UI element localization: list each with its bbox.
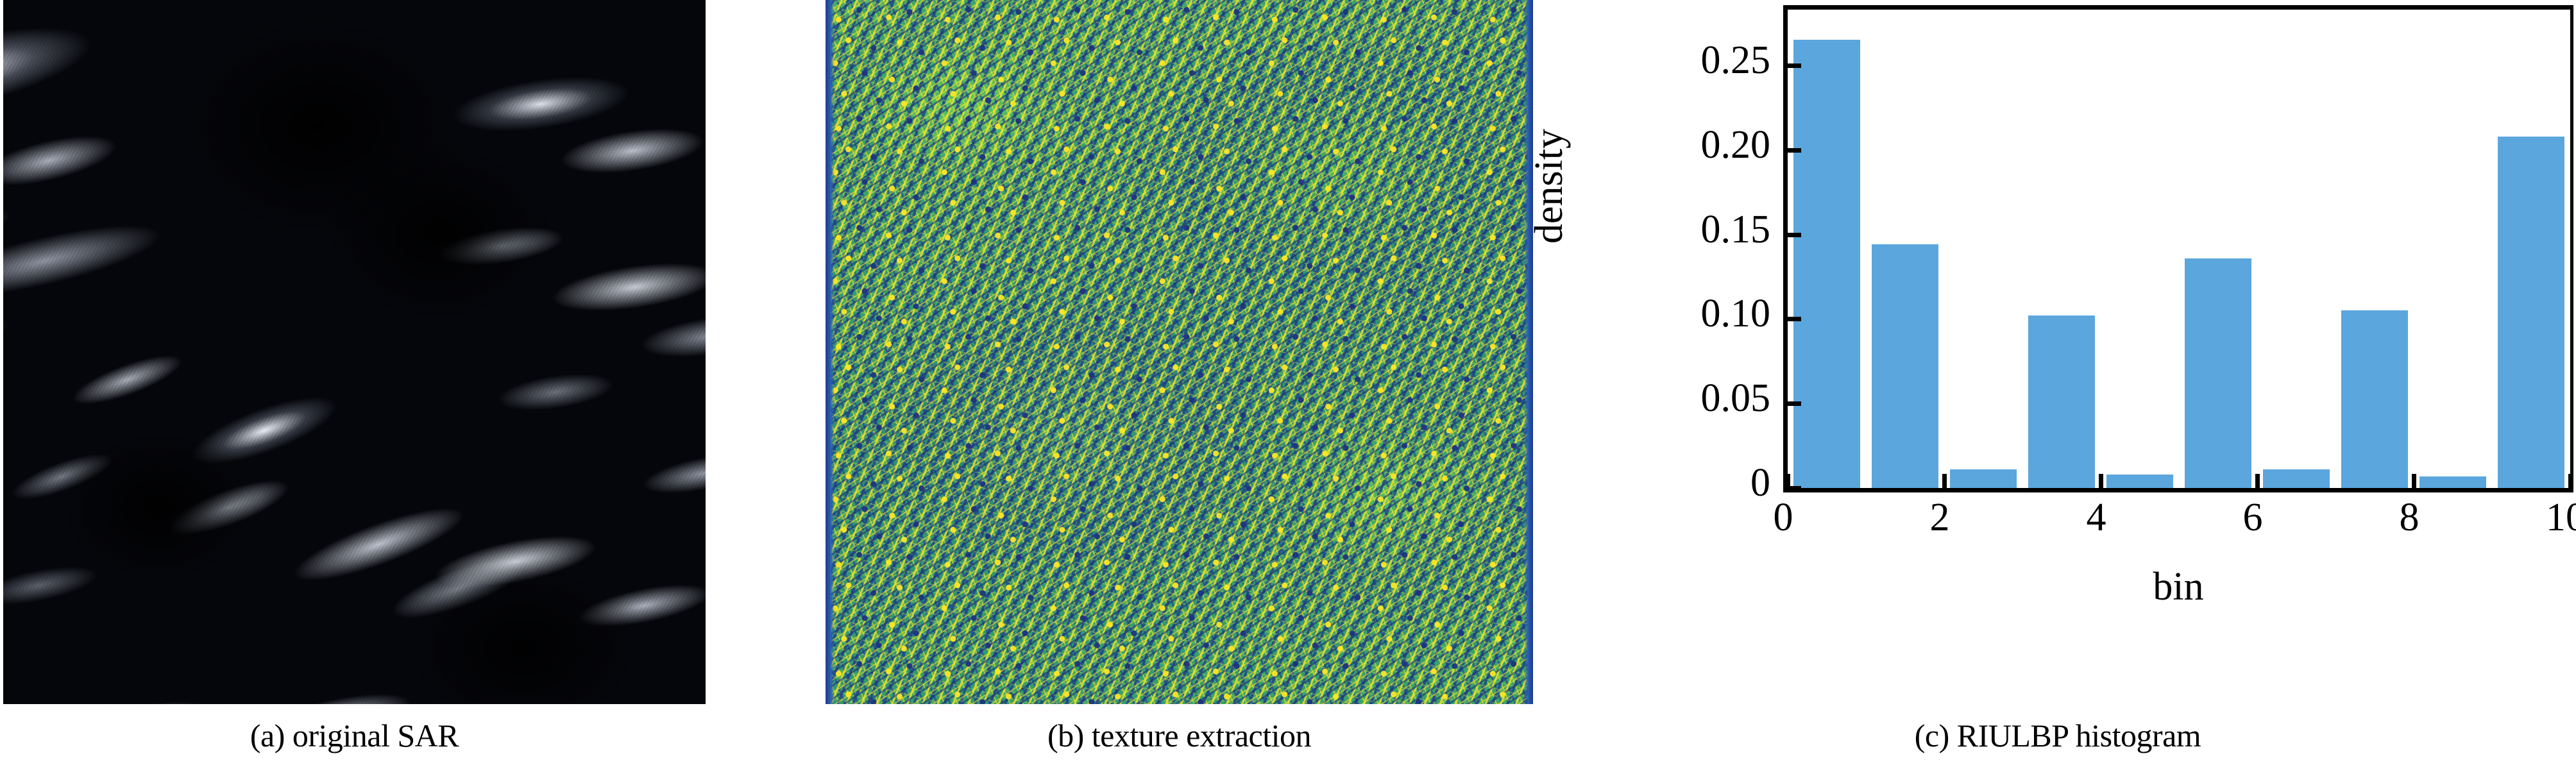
texture-colormap-image	[826, 0, 1533, 704]
texture-right-border-band	[1524, 0, 1533, 704]
y-axis-tick-label: 0.15	[1565, 210, 1770, 249]
y-axis-tick-label: 0.05	[1565, 378, 1770, 418]
histogram-bar	[1950, 469, 2017, 488]
x-axis-tick-mark	[2568, 474, 2573, 488]
x-axis-tick-mark	[1942, 474, 1947, 488]
y-axis-tick-label: 0.10	[1565, 294, 1770, 333]
figure-row: (a) original SAR (b) texture extraction …	[0, 0, 2576, 765]
y-axis-tick-mark	[1787, 317, 1801, 321]
histogram-bar	[2028, 315, 2095, 488]
sar-speckle-layer	[3, 0, 706, 704]
y-axis-tick-mark	[1787, 401, 1801, 406]
y-axis-tick-mark	[1787, 63, 1801, 68]
histogram-bar	[1793, 40, 1860, 488]
sar-grayscale-image	[3, 0, 706, 704]
x-axis-tick-label: 4	[2051, 498, 2141, 537]
x-axis-tick-label: 2	[1895, 498, 1985, 537]
x-axis-tick-label: 0	[1738, 498, 1828, 537]
panel-riulbp-histogram: density bin 00.050.100.150.200.250246810…	[1539, 0, 2576, 704]
histogram-bar	[2106, 475, 2173, 488]
y-axis-tick-label: 0.25	[1565, 40, 1770, 80]
histogram-bar	[2185, 258, 2251, 489]
x-axis-tick-mark	[2099, 474, 2103, 488]
texture-speckle-layer	[826, 0, 1533, 704]
panel-c-caption: (c) RIULBP histogram	[1539, 717, 2576, 754]
histogram-bar	[2263, 469, 2330, 488]
x-axis-tick-mark	[1786, 474, 1790, 488]
panel-original-sar: (a) original SAR	[3, 0, 706, 704]
y-axis-tick-mark	[1787, 148, 1801, 153]
histogram-chart: density bin 00.050.100.150.200.250246810	[1539, 0, 2576, 704]
histogram-bar	[2419, 476, 2486, 488]
x-axis-tick-mark	[2412, 474, 2416, 488]
x-axis-tick-label: 10	[2521, 498, 2576, 537]
histogram-bar	[2498, 137, 2564, 488]
x-axis-tick-label: 6	[2208, 498, 2298, 537]
plot-frame	[1783, 5, 2573, 492]
y-axis-tick-label: 0.20	[1565, 125, 1770, 165]
histogram-bar	[1872, 244, 1938, 488]
x-axis-tick-mark	[2255, 474, 2260, 488]
y-axis-tick-label: 0	[1565, 463, 1770, 503]
y-axis-tick-mark	[1787, 233, 1801, 237]
bars-layer	[1788, 10, 2570, 488]
panel-b-caption: (b) texture extraction	[826, 717, 1533, 754]
panel-texture-extraction: (b) texture extraction	[826, 0, 1533, 704]
x-axis-tick-label: 8	[2364, 498, 2454, 537]
texture-left-border-band	[826, 0, 835, 704]
panel-a-caption: (a) original SAR	[3, 717, 706, 754]
histogram-bar	[2341, 310, 2408, 488]
x-axis-label: bin	[1783, 564, 2573, 610]
